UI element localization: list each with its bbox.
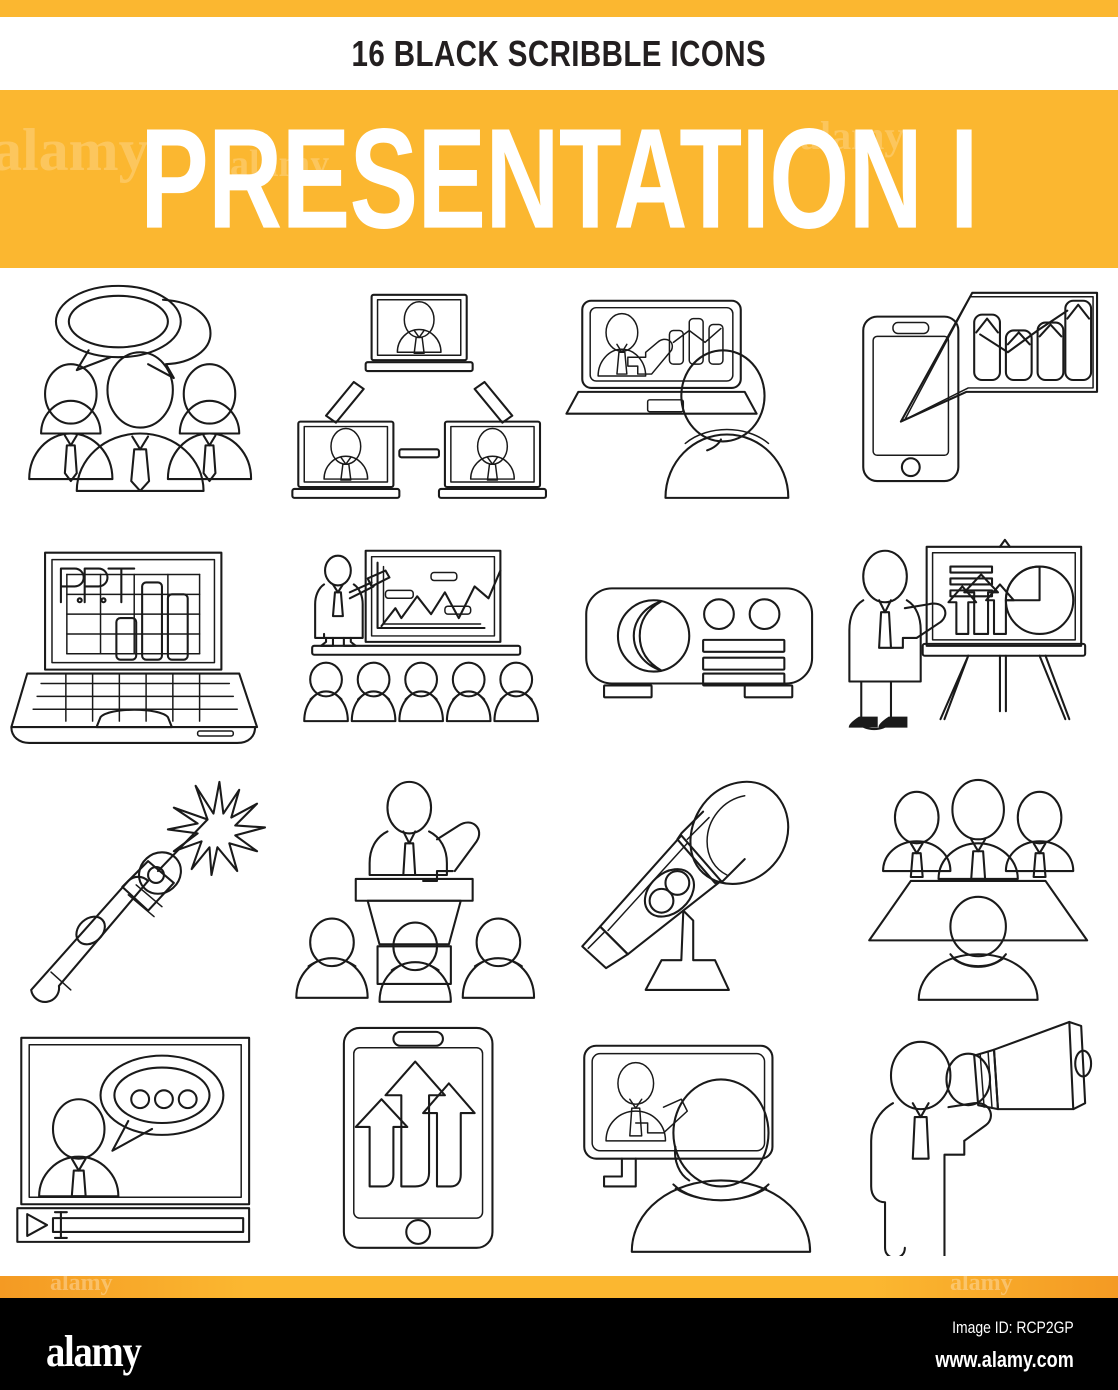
icon-smartphone-projection[interactable] bbox=[839, 270, 1118, 518]
icon-grid bbox=[0, 270, 1118, 1260]
icon-video-player-speaker[interactable] bbox=[0, 1013, 280, 1261]
title-band: PRESENTATION I alamy alamy alamy bbox=[0, 90, 1118, 268]
subtitle-band: 16 BLACK SCRIBBLE ICONS bbox=[0, 17, 1118, 90]
watermark-title-left: alamy bbox=[0, 116, 149, 185]
icon-interview-panel-table[interactable] bbox=[839, 765, 1118, 1013]
icon-laser-pointer[interactable] bbox=[0, 765, 280, 1013]
footer-orange-bar: alamy alamy bbox=[0, 1276, 1118, 1298]
image-id-text: Image ID: RCP2GP bbox=[936, 1318, 1074, 1338]
icon-speaker-podium[interactable] bbox=[280, 765, 560, 1013]
icon-presenter-line-chart[interactable] bbox=[280, 518, 560, 766]
alamy-meta: Image ID: RCP2GP www.alamy.com bbox=[905, 1318, 1074, 1373]
icon-team-speech-bubbles[interactable] bbox=[0, 270, 280, 518]
icon-presenter-flipchart[interactable] bbox=[839, 518, 1118, 766]
alamy-logo[interactable]: alamy bbox=[46, 1326, 141, 1377]
subtitle-text: 16 BLACK SCRIBBLE ICONS bbox=[352, 33, 767, 75]
icon-monitor-online-training[interactable] bbox=[559, 1013, 839, 1261]
icon-microphone-stand[interactable] bbox=[559, 765, 839, 1013]
icon-laptop-ppt-chart[interactable] bbox=[0, 518, 280, 766]
icon-man-megaphone[interactable] bbox=[839, 1013, 1118, 1261]
icon-video-projector[interactable] bbox=[559, 518, 839, 766]
alamy-url-text[interactable]: www.alamy.com bbox=[936, 1347, 1074, 1373]
icon-online-webinar-laptop[interactable] bbox=[559, 270, 839, 518]
page-title: PRESENTATION I bbox=[140, 108, 978, 251]
top-accent-band bbox=[0, 0, 1118, 17]
icon-video-conference-laptops[interactable] bbox=[280, 270, 560, 518]
footer-white-gap bbox=[0, 1260, 1118, 1276]
icon-tablet-growth-arrows[interactable] bbox=[280, 1013, 560, 1261]
